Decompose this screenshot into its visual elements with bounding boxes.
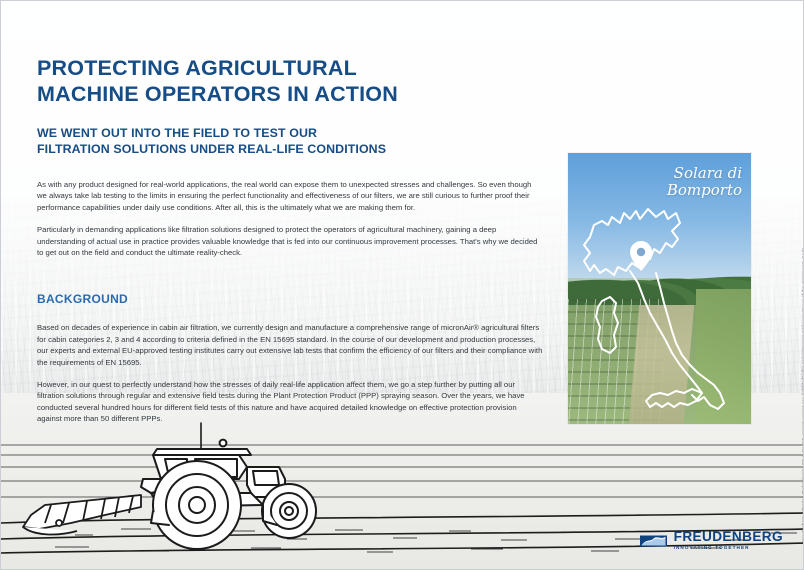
map-location-label: Solara di Bomporto [622,165,742,199]
subtitle-line-2: FILTRATION SOLUTIONS UNDER REAL-LIFE CON… [37,142,386,156]
freudenberg-mark-icon [640,533,667,549]
title-line-2: MACHINE OPERATORS IN ACTION [37,82,398,106]
intro-paragraph-1: As with any product designed for real-wo… [37,179,543,213]
background-paragraph-1: Based on decades of experience in cabin … [37,322,543,368]
title-line-1: PROTECTING AGRICULTURAL [37,56,357,80]
brochure-page: PROTECTING AGRICULTURAL MACHINE OPERATOR… [0,0,804,570]
logo-tagline: INNOVATING TOGETHER [674,546,783,551]
section-heading-background: BACKGROUND [37,292,543,306]
background-paragraph-2: However, in our quest to perfectly under… [37,379,543,425]
map-label-line-1: Solara di [674,164,742,182]
freudenberg-logo: FREUDENBERG INNOVATING TOGETHER [640,530,783,551]
map-label-line-2: Bomporto [667,181,742,199]
page-title: PROTECTING AGRICULTURAL MACHINE OPERATOR… [37,55,543,107]
map-location-pin [630,241,652,271]
logo-brand-name: FREUDENBERG [674,530,783,544]
intro-paragraph-2: Particularly in demanding applications l… [37,224,543,258]
subtitle-line-1: WE WENT OUT INTO THE FIELD TO TEST OUR [37,126,317,140]
background-section: BACKGROUND Based on decades of experienc… [37,292,543,424]
intro-paragraphs: As with any product designed for real-wo… [37,179,543,258]
location-photo-card: Solara di Bomporto [568,153,751,424]
article-content: PROTECTING AGRICULTURAL MACHINE OPERATOR… [37,55,543,425]
page-subtitle: WE WENT OUT INTO THE FIELD TO TEST OUR F… [37,125,543,157]
